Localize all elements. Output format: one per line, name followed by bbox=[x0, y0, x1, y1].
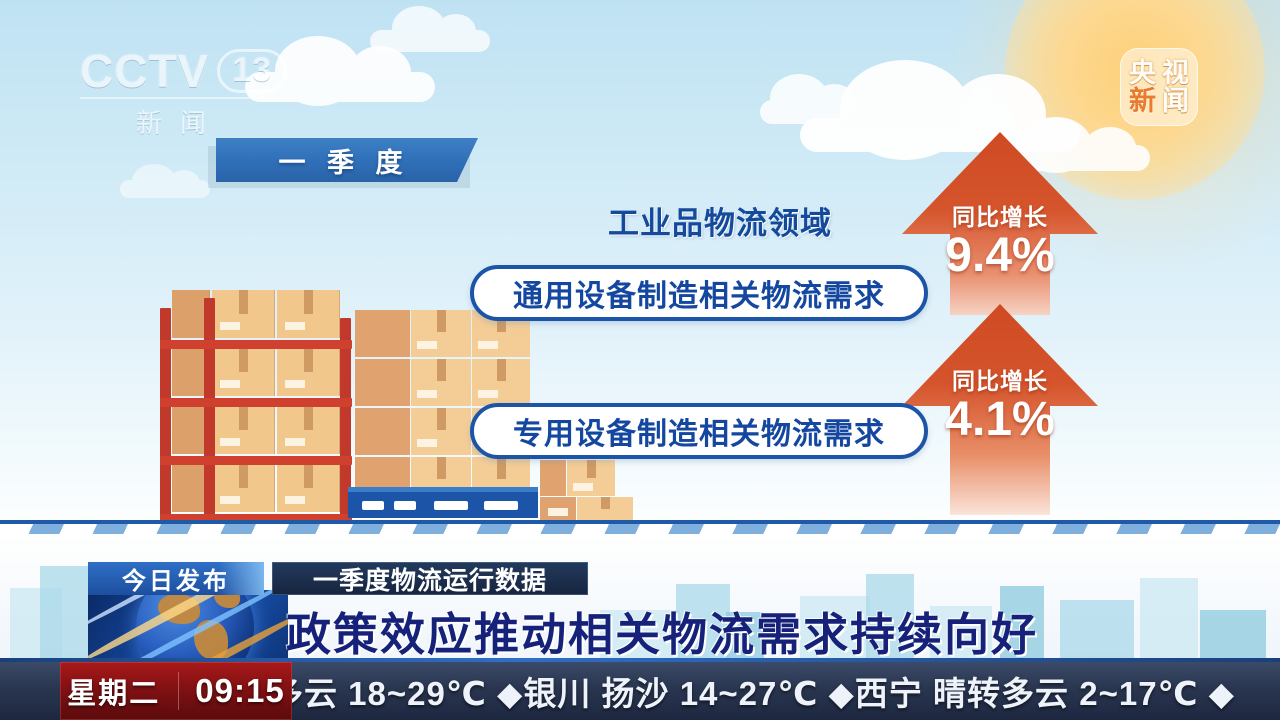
growth-arrow-2: 同比增长 4.1% bbox=[900, 300, 1100, 515]
clock-time: 09:15 bbox=[178, 672, 284, 710]
clock-widget: 星期二 09:15 bbox=[60, 662, 292, 720]
warehouse-rack-illustration bbox=[160, 290, 375, 525]
cloud-icon bbox=[120, 180, 210, 198]
tag-topic-label: 一季度物流运行数据 bbox=[313, 561, 547, 597]
cloud-icon bbox=[245, 72, 435, 102]
tag-today-release: 今日发布 bbox=[88, 562, 264, 595]
growth-arrow-2-value: 4.1% bbox=[900, 392, 1100, 447]
growth-arrow-1-caption: 同比增长 bbox=[900, 198, 1100, 232]
watermark-char-3: 新 bbox=[1126, 88, 1159, 115]
growth-arrow-1: 同比增长 9.4% bbox=[900, 130, 1100, 315]
weekday-label: 星期二 bbox=[67, 670, 160, 712]
quarter-banner-label: 一 季 度 bbox=[278, 141, 415, 180]
weather-ticker-text: 多云 18~29℃ ◆银川 扬沙 14~27℃ ◆西宁 晴转多云 2~17℃ ◆ bbox=[270, 667, 1235, 715]
growth-arrow-1-value: 9.4% bbox=[900, 228, 1100, 283]
watermark-char-2: 视 bbox=[1159, 60, 1192, 87]
small-box-pile-illustration bbox=[540, 460, 636, 520]
pallet-illustration bbox=[348, 492, 538, 518]
demand-pill-2-label: 专用设备制造相关物流需求 bbox=[513, 409, 885, 453]
quarter-banner: 一 季 度 bbox=[216, 138, 478, 182]
watermark-char-1: 央 bbox=[1126, 60, 1159, 87]
demand-pill-general-equipment: 通用设备制造相关物流需求 bbox=[470, 265, 928, 321]
tag-topic: 一季度物流运行数据 bbox=[272, 562, 588, 595]
tag-today-label: 今日发布 bbox=[122, 561, 230, 596]
cctv-news-watermark: 央 视 新 闻 bbox=[1120, 48, 1198, 126]
field-title: 工业品物流领域 bbox=[560, 198, 880, 243]
watermark-char-4: 闻 bbox=[1159, 88, 1192, 115]
broadcast-frame: CCTV 13 新闻 央 视 新 闻 一 季 度 工业品物流领域 bbox=[0, 0, 1280, 720]
demand-pill-1-label: 通用设备制造相关物流需求 bbox=[513, 271, 885, 315]
demand-pill-special-equipment: 专用设备制造相关物流需求 bbox=[470, 403, 928, 459]
headline: 政策效应推动相关物流需求持续向好 bbox=[286, 598, 1038, 663]
growth-arrow-2-caption: 同比增长 bbox=[900, 362, 1100, 396]
